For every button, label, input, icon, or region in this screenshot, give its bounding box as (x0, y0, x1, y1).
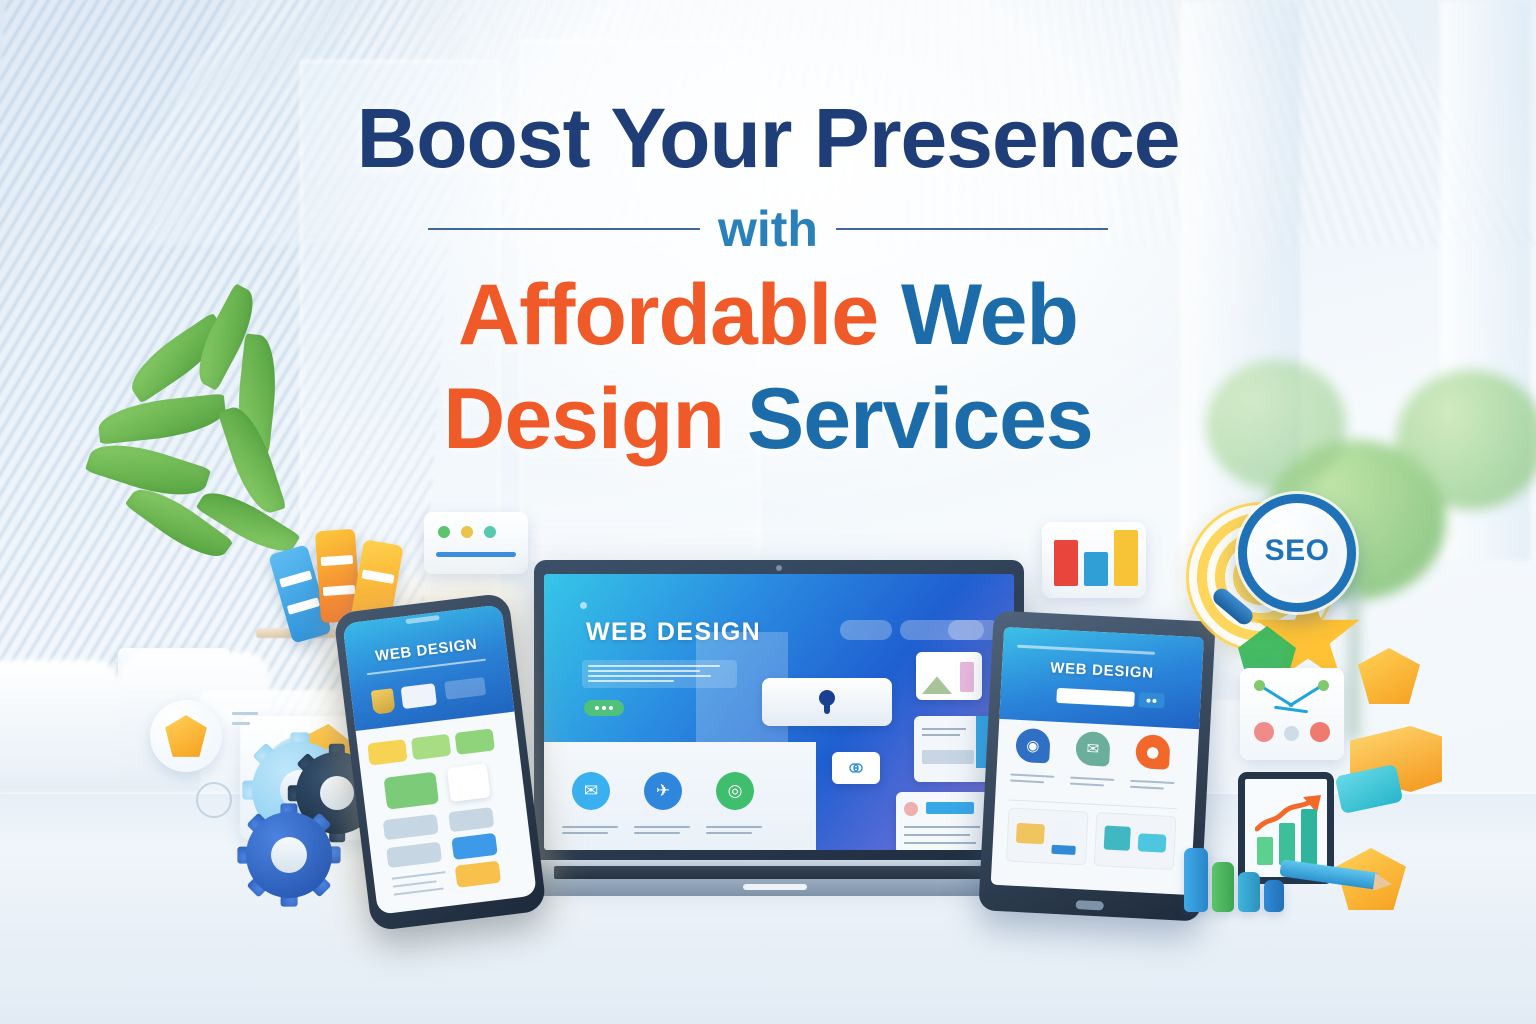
envelope-icon: ✉ (1075, 731, 1111, 767)
smartphone-device: WEB DESIGN (333, 592, 547, 931)
connector-row: with (0, 204, 1536, 254)
bar-chart-card (1042, 522, 1146, 598)
tile-yellow[interactable] (367, 739, 407, 765)
laptop-nav-item-1[interactable] (840, 620, 892, 640)
growth-bar-2 (1279, 823, 1295, 865)
headline-secondary-line1: Affordable Web (0, 272, 1536, 358)
gear-blue-icon (246, 812, 332, 898)
tile-grey-b[interactable] (448, 807, 494, 832)
tile-green-light[interactable] (411, 734, 451, 760)
briefcase-icon: ✉ (572, 772, 610, 810)
phone-screen: WEB DESIGN (342, 604, 537, 914)
list-icon (401, 683, 437, 709)
shield-icon (371, 688, 396, 715)
divider-right (836, 228, 1108, 230)
tablet-body: WEB DESIGN ◉ ✉ ● (978, 610, 1215, 921)
keyhole-icon (819, 690, 835, 714)
laptop-media-card (916, 652, 982, 700)
tile-green[interactable] (455, 728, 495, 754)
tile-chat-green[interactable] (384, 772, 440, 810)
tablet-search-button[interactable] (1138, 692, 1165, 708)
browser-window-card (424, 512, 528, 574)
cylinder-blue-3 (1264, 880, 1284, 912)
bar-yellow (1114, 530, 1138, 586)
tile-blue[interactable] (451, 833, 497, 860)
chat-bubble-icon: ◉ (1015, 728, 1051, 764)
browser-dots (438, 526, 496, 538)
laptop-trackpad[interactable] (743, 884, 807, 890)
network-analytics-card (1240, 668, 1344, 760)
tablet-screen-title: WEB DESIGN (1002, 657, 1203, 684)
node-green-a (1254, 680, 1265, 691)
badge-origami-left (150, 700, 222, 772)
node-green-b (1318, 680, 1329, 691)
headline-blue-web: Web (901, 267, 1078, 363)
dot-teal-icon (484, 526, 496, 538)
pencil-tip-icon (1373, 873, 1393, 893)
headline-accent-design: Design (443, 371, 747, 467)
bar-red (1054, 540, 1078, 586)
laptop-screen: WEB DESIGN (544, 574, 1014, 850)
browser-url-bar (436, 552, 516, 557)
tile-grey-a[interactable] (383, 814, 439, 840)
tile-white-icon[interactable] (447, 763, 491, 802)
tile-grey-c[interactable] (386, 842, 442, 868)
web-design-promo-banner: Boost Your Presence with Affordable Web … (0, 0, 1536, 1024)
bar-blue (1084, 552, 1108, 586)
connector-word: with (718, 204, 818, 254)
node-red-a (1254, 722, 1274, 742)
laptop-feature-panel: ✉ ✈ ◎ (544, 742, 816, 850)
headline-block: Boost Your Presence with Affordable Web … (0, 96, 1536, 462)
growth-bar-1 (1257, 837, 1273, 865)
infinity-icon (843, 762, 869, 774)
headline-primary: Boost Your Presence (0, 96, 1536, 182)
dot-green-icon (438, 526, 450, 538)
magnifier-lens-icon: SEO (1238, 494, 1356, 612)
seo-label: SEO (1265, 534, 1330, 568)
node-grey (1284, 726, 1299, 741)
cylinder-blue-1 (1184, 848, 1208, 912)
laptop-hero-card (762, 678, 892, 726)
phone-body: WEB DESIGN (333, 592, 547, 931)
tablet-progress-bar (1017, 645, 1155, 655)
tablet-header: WEB DESIGN (999, 627, 1204, 729)
laptop-logo-dot (580, 602, 587, 609)
origami-badge-icon (165, 715, 207, 757)
laptop-device: WEB DESIGN (520, 560, 1030, 920)
laptop-lid: WEB DESIGN (534, 560, 1024, 862)
tablet-home-button[interactable] (1075, 900, 1103, 910)
tablet-divider (1009, 799, 1177, 809)
node-red-b (1310, 722, 1330, 742)
origami-icon-top (1358, 648, 1420, 704)
headline-accent-affordable: Affordable (458, 267, 901, 363)
phone-nav-pill[interactable] (444, 677, 486, 700)
phone-screen-title: WEB DESIGN (346, 632, 507, 668)
laptop-camera-icon (776, 565, 782, 571)
rocket-icon: ✈ (644, 772, 682, 810)
laptop-keyboard[interactable] (554, 866, 996, 879)
tablet-device: WEB DESIGN ◉ ✉ ● (978, 610, 1215, 921)
headset-icon: ● (1135, 734, 1171, 770)
seo-magnifier: SEO (1186, 486, 1386, 676)
cylinder-blue-2 (1238, 872, 1260, 912)
phone-header: WEB DESIGN (342, 604, 514, 731)
growth-bar-3 (1301, 809, 1317, 865)
cylinder-green (1212, 862, 1234, 912)
badge-circle-small (196, 782, 232, 818)
laptop-link-card (832, 752, 880, 784)
card-mail-lock[interactable] (1006, 807, 1089, 865)
dot-yellow-icon (461, 526, 473, 538)
headline-blue-services: Services (747, 371, 1093, 467)
tile-amber[interactable] (455, 861, 501, 888)
bar-chart-icon (1054, 534, 1134, 586)
location-pin-icon: ◎ (716, 772, 754, 810)
phone-speaker-icon (405, 615, 439, 624)
megaphone-handle-icon (1335, 764, 1404, 814)
card-chat-share[interactable] (1094, 812, 1177, 870)
divider-left (428, 228, 700, 230)
headline-secondary-line2: Design Services (0, 376, 1536, 462)
laptop-chat-pill[interactable] (584, 700, 624, 716)
tablet-screen: WEB DESIGN ◉ ✉ ● (991, 627, 1204, 895)
